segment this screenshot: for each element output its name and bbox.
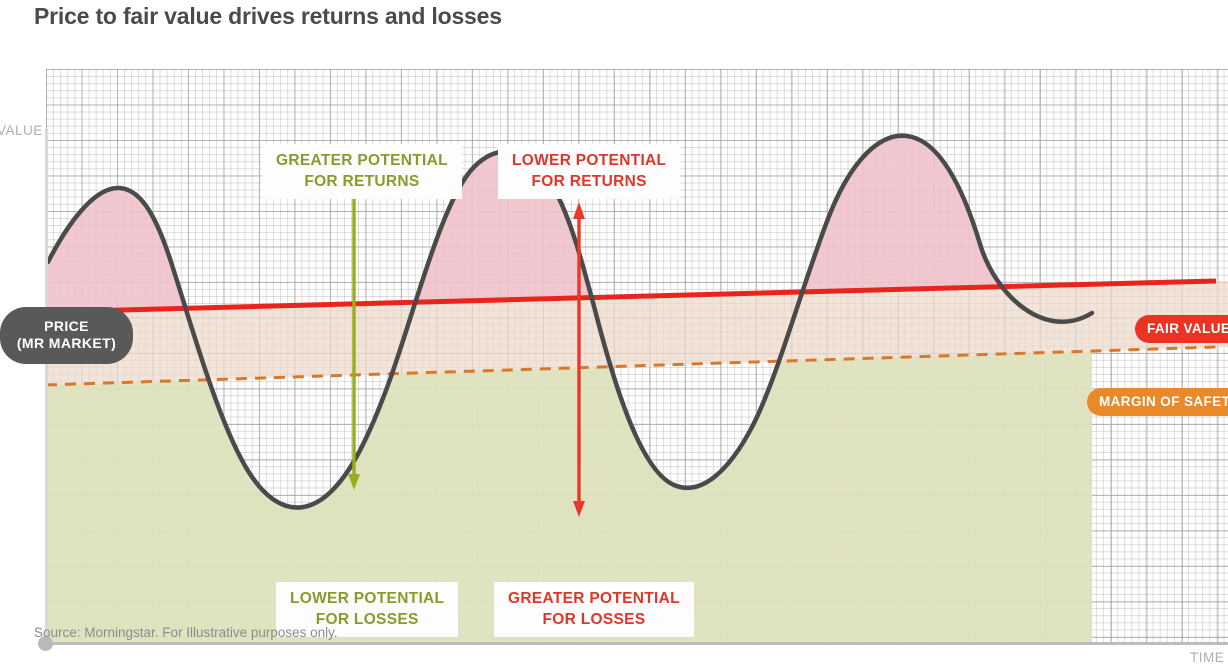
callout-line-1: GREATER POTENTIAL [276, 150, 448, 171]
time-axis-line [46, 642, 1228, 645]
callout-greater-potential-for-returns: GREATER POTENTIAL FOR RETURNS [262, 144, 462, 199]
source-note: Source: Morningstar. For Illustrative pu… [34, 625, 338, 640]
callout-line-1: LOWER POTENTIAL [290, 588, 444, 609]
margin-of-safety-legend-pill: MARGIN OF SAFETY [1087, 388, 1228, 416]
price-pill-line-2: (MR MARKET) [0, 335, 133, 352]
callout-line-2: FOR LOSSES [508, 609, 680, 630]
callout-line-1: GREATER POTENTIAL [508, 588, 680, 609]
callout-line-2: FOR RETURNS [512, 171, 666, 192]
price-legend-pill: PRICE (MR MARKET) [0, 307, 133, 364]
page-title: Price to fair value drives returns and l… [34, 3, 502, 30]
price-pill-line-1: PRICE [0, 318, 133, 335]
value-axis-label: VALUE [0, 123, 43, 138]
fair-value-legend-pill: FAIR VALUE [1135, 315, 1228, 343]
chart-canvas: VALUE TIME GREATER POTENTIAL FOR RETURNS… [0, 60, 1228, 595]
time-axis-label: TIME [1190, 650, 1224, 665]
callout-line-1: LOWER POTENTIAL [512, 150, 666, 171]
callout-lower-potential-for-returns: LOWER POTENTIAL FOR RETURNS [498, 144, 680, 199]
callout-line-2: FOR RETURNS [276, 171, 448, 192]
value-axis-line [45, 129, 48, 644]
callout-greater-potential-for-losses: GREATER POTENTIAL FOR LOSSES [494, 582, 694, 637]
